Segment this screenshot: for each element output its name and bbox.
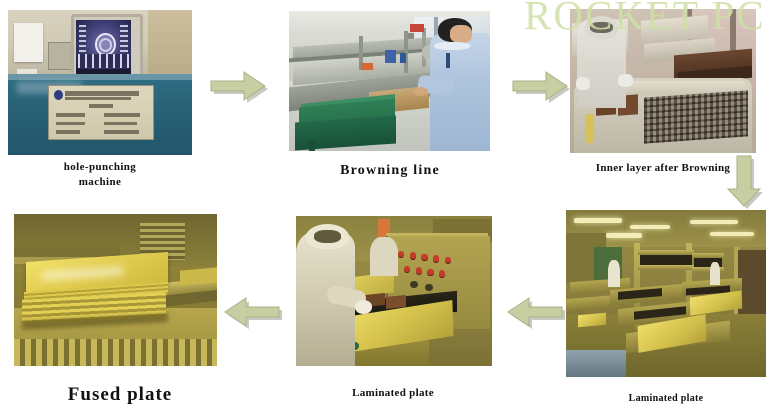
ceiling-lamp-1 [574, 218, 622, 222]
caption-laminated-plate-room: Laminated plate [576, 392, 756, 406]
operator-face [450, 25, 472, 43]
operator-hand [414, 87, 428, 97]
ceiling-lamp-5 [710, 232, 754, 236]
arrow-left-2 [508, 298, 568, 336]
green-cart-leg [309, 140, 315, 151]
photo-browning-line [289, 11, 490, 151]
cleanroom-operator-glove-left [576, 77, 591, 90]
ceiling-lamp-4 [606, 233, 642, 237]
control-button-6[interactable] [404, 266, 410, 273]
control-button-7[interactable] [416, 267, 422, 274]
machine-roller-grate-shading [644, 90, 748, 143]
foreground-blue-rail [566, 350, 626, 377]
ceiling-lamp-2 [630, 225, 670, 229]
ceiling-lamp-3 [690, 220, 738, 224]
prepreg-sheet-left [578, 312, 606, 326]
rack-stored-panels-1 [640, 255, 692, 265]
foreground-operator-visor [314, 230, 341, 244]
nameplate-field-6 [104, 130, 139, 134]
conveyor-post-2 [404, 31, 409, 73]
machine-yellow-edge [585, 114, 594, 143]
nameplate-title [89, 104, 113, 108]
table-grate [14, 339, 217, 366]
process-flow-diagram: ROCKET PCB [0, 0, 767, 414]
screen-target-inner-ring [99, 38, 112, 51]
nameplate-field-2 [104, 113, 141, 117]
caption-laminated-plate-station: Laminated plate [308, 386, 478, 401]
photo-fused-plate [14, 214, 217, 366]
cleanroom-operator-glove-right [618, 74, 633, 87]
foreground-operator-glove [355, 300, 373, 314]
manufacturer-logo [54, 90, 63, 100]
inner-layer-panel-2 [386, 294, 406, 308]
control-knob-1[interactable] [410, 281, 418, 289]
control-button-9[interactable] [439, 270, 445, 277]
nameplate-field-5 [56, 130, 80, 134]
control-button-3[interactable] [421, 254, 427, 261]
caption-browning-line: Browning line [300, 162, 480, 181]
photo-inner-layer-after-browning [570, 9, 756, 153]
adjacent-plate [180, 267, 217, 285]
room-operator-2 [710, 262, 720, 285]
photo-hole-punching-machine [8, 10, 192, 155]
arrow-left-1 [225, 298, 285, 336]
photo-laminated-plate-station [296, 216, 492, 366]
arrow-down-1 [728, 156, 767, 212]
rack-shelf-2 [638, 265, 694, 270]
control-button-8[interactable] [427, 269, 433, 276]
background-operator [370, 237, 397, 276]
room-operator-1 [608, 260, 620, 287]
nameplate-field-1 [56, 113, 85, 117]
operator-badge-lanyard [446, 53, 450, 68]
caption-hole-punching-machine: hole-punching machine [20, 160, 180, 190]
caption-fused-plate: Fused plate [30, 382, 210, 408]
blue-equipment-box-2 [400, 53, 406, 63]
operator-collar [434, 42, 470, 50]
control-button-2[interactable] [410, 252, 416, 259]
nameplate-company-sub [65, 97, 131, 100]
nameplate-field-4 [104, 122, 137, 126]
red-warning-sign [410, 24, 424, 32]
blue-equipment-box [385, 50, 395, 63]
machine-body-highlight [8, 74, 192, 80]
photo-laminated-plate-room [566, 210, 766, 377]
arrow-right-2 [513, 72, 573, 110]
control-knob-2[interactable] [425, 284, 433, 292]
arrow-right-1 [211, 72, 271, 110]
machine-side-wall [148, 10, 192, 77]
nameplate-company-line [65, 91, 139, 95]
wall-notice-paper [14, 23, 43, 62]
screen-data-grid [78, 54, 130, 69]
cleanroom-operator-visor [590, 22, 612, 34]
orange-marker [361, 63, 373, 70]
nameplate-field-3 [56, 122, 85, 126]
